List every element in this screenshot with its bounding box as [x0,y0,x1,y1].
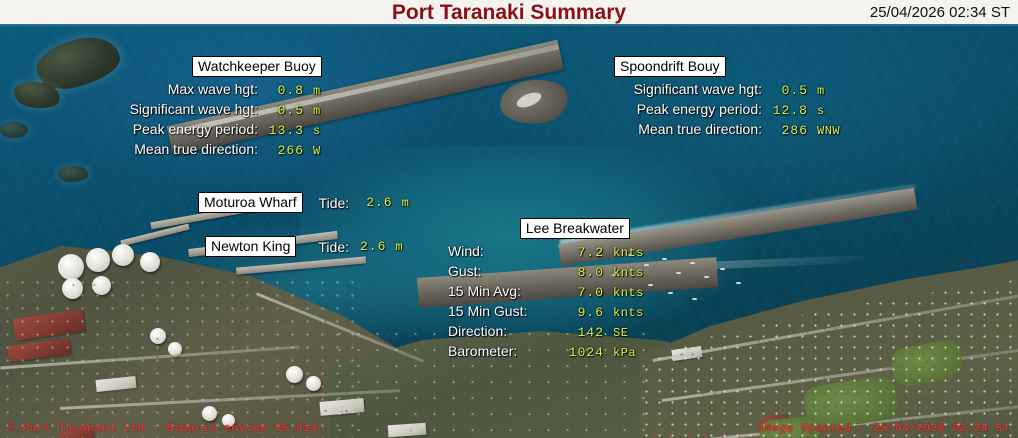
row-unit: knts [604,243,644,263]
data-row: Direction:142SE [448,321,644,341]
oil-storage-tank [86,248,110,272]
row-label: Peak energy period: [614,99,762,119]
row-label: Direction: [448,321,552,341]
data-row: Mean true direction:286WNW [614,119,840,139]
moored-boat [692,298,697,300]
lee-breakwater-title: Lee Breakwater [520,218,630,239]
row-value: 9.6 [552,303,604,323]
moored-boat [668,292,673,294]
row-label: Gust: [448,261,552,281]
moored-boat [644,264,649,266]
row-label: Mean true direction: [110,139,258,159]
spoondrift-bouy-rows: Significant wave hgt:0.5m Peak energy pe… [614,79,840,139]
row-unit: SE [604,323,628,343]
row-value: 7.0 [552,283,604,303]
row-label: Tide: [296,239,344,255]
moturoa-wharf-panel: Moturoa WharfTide:2.6m [198,192,409,213]
moored-boat [690,262,695,264]
watchkeeper-buoy-rows: Max wave hgt:0.8m Significant wave hgt:0… [110,79,322,159]
row-value: 2.6 [351,195,393,210]
moturoa-wharf-title: Moturoa Wharf [198,192,303,213]
watchkeeper-buoy-title-wrap: Watchkeeper Buoy [110,56,322,77]
row-label: 15 Min Avg: [448,281,552,301]
row-label: Peak energy period: [110,119,258,139]
row-label: Wind: [448,241,552,261]
row-value: 142 [552,323,604,343]
port-taranaki-summary-page: Port Taranaki Summary 25/04/2026 02:34 S… [0,0,1018,438]
oil-storage-tank [140,252,160,272]
lee-breakwater-rows: Wind:7.2knts Gust:8.0knts 15 Min Avg:7.0… [448,241,644,361]
industrial-texture [0,276,360,438]
row-unit: kPa [604,343,636,363]
moored-boat [704,276,709,278]
row-label: Mean true direction: [614,119,762,139]
header-datetime: 25/04/2026 02:34 ST [870,0,1010,25]
moored-boat [720,268,725,270]
row-value: 1024 [552,343,604,363]
page-title: Port Taranaki Summary [0,0,1018,25]
data-row: 15 Min Gust:9.6knts [448,301,644,321]
newton-king-title: Newton King [205,236,296,257]
newton-king-panel: Newton KingTide:2.6m [205,236,403,257]
row-value: 0.8 [258,81,304,101]
row-unit: s [808,101,825,121]
row-value: 2.6 [344,239,386,254]
row-unit: m [304,81,321,101]
copyright-text: © Port Taranaki Ltd - Bimaris enView V5.… [8,423,318,435]
row-label: Significant wave hgt: [614,79,762,99]
rocky-islet [58,166,88,182]
data-row: Gust:8.0knts [448,261,644,281]
row-label: Tide: [303,195,351,211]
moored-boat [736,282,741,284]
row-unit: m [386,240,403,254]
moored-boat [676,272,681,274]
row-unit: knts [604,303,644,323]
row-unit: m [304,101,321,121]
watchkeeper-buoy-title: Watchkeeper Buoy [192,56,322,77]
row-unit: knts [604,263,644,283]
image-updated-text: Image Updated - 25/04/2026 02:34 ST [758,423,1010,435]
spoondrift-bouy-title: Spoondrift Bouy [614,56,726,77]
row-value: 13.3 [258,121,304,141]
moored-boat [662,258,667,260]
row-unit: W [304,141,321,161]
data-row: Barometer:1024kPa [448,341,644,361]
lee-breakwater-title-wrap: Lee Breakwater [448,218,644,239]
watchkeeper-buoy-panel: Watchkeeper Buoy Max wave hgt:0.8m Signi… [110,56,322,159]
spoondrift-bouy-panel: Spoondrift Bouy Significant wave hgt:0.5… [614,56,840,139]
row-label: Significant wave hgt: [110,99,258,119]
data-row: Peak energy period:13.3s [110,119,322,139]
page-header: Port Taranaki Summary 25/04/2026 02:34 S… [0,0,1018,26]
data-row: Peak energy period:12.8s [614,99,840,119]
row-unit: WNW [808,121,840,141]
row-value: 266 [258,141,304,161]
row-label: Max wave hgt: [110,79,258,99]
rocky-islet [0,122,28,138]
lee-breakwater-panel: Lee Breakwater Wind:7.2knts Gust:8.0knts… [448,218,644,361]
data-row: Max wave hgt:0.8m [110,79,322,99]
data-row: 15 Min Avg:7.0knts [448,281,644,301]
row-value: 8.0 [552,263,604,283]
row-value: 12.8 [762,101,808,121]
row-value: 7.2 [552,243,604,263]
aerial-map-image: Watchkeeper Buoy Max wave hgt:0.8m Signi… [0,26,1018,438]
spoondrift-bouy-title-wrap: Spoondrift Bouy [614,56,840,77]
data-row: Wind:7.2knts [448,241,644,261]
row-unit: s [304,121,321,141]
row-value: 286 [762,121,808,141]
oil-storage-tank [112,244,134,266]
row-value: 0.5 [258,101,304,121]
row-label: 15 Min Gust: [448,301,552,321]
moored-boat [648,284,653,286]
row-unit: m [393,196,410,210]
row-unit: knts [604,283,644,303]
row-value: 0.5 [762,81,808,101]
data-row: Mean true direction:266W [110,139,322,159]
data-row: Significant wave hgt:0.5m [110,99,322,119]
data-row: Significant wave hgt:0.5m [614,79,840,99]
row-label: Barometer: [448,341,552,361]
row-unit: m [808,81,825,101]
